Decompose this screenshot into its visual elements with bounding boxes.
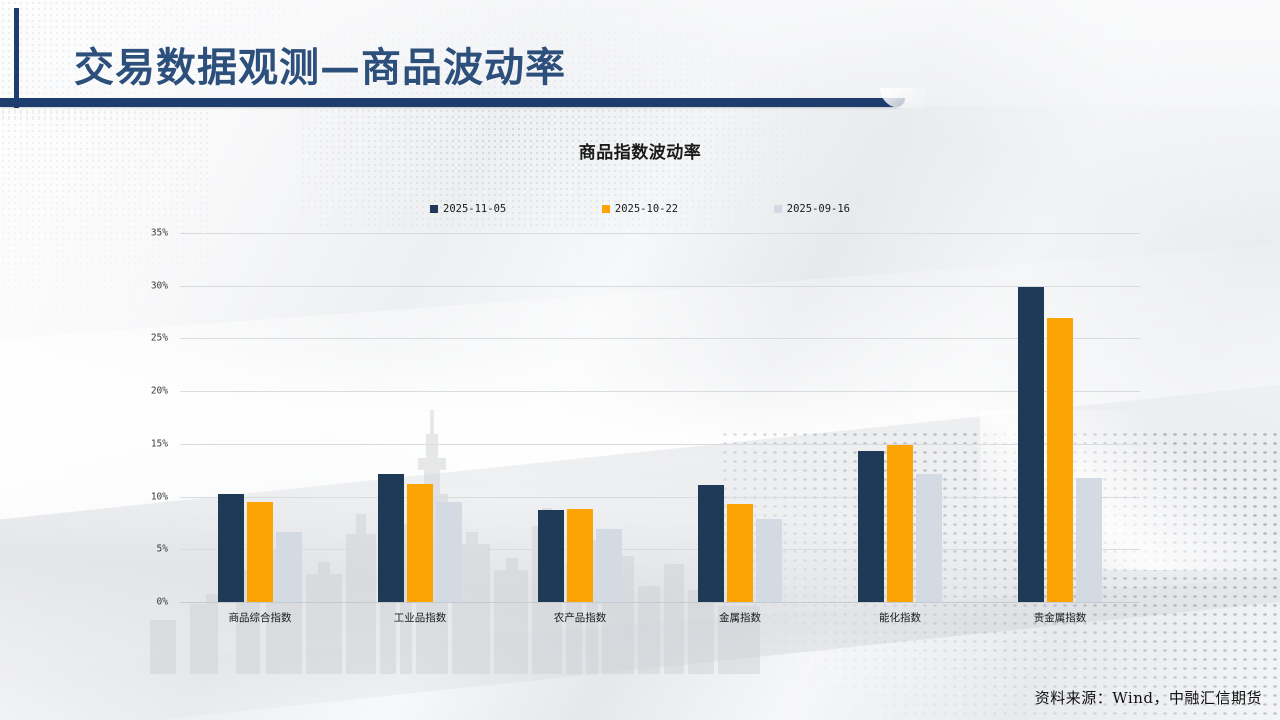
y-axis-tick-label: 30% (128, 280, 168, 291)
bar[interactable] (567, 509, 593, 602)
bar-group: 贵金属指数 (980, 233, 1140, 602)
bar[interactable] (407, 484, 433, 602)
bar[interactable] (218, 494, 244, 602)
bar-cluster (340, 233, 500, 602)
bar[interactable] (698, 485, 724, 602)
left-accent-bar (14, 8, 19, 108)
legend-item[interactable]: 2025-09-16 (774, 203, 850, 215)
legend-swatch-icon (602, 205, 610, 213)
x-axis-category-label: 商品综合指数 (180, 610, 340, 625)
x-axis-category-label: 贵金属指数 (980, 610, 1140, 625)
bar-group: 农产品指数 (500, 233, 660, 602)
legend-label: 2025-10-22 (615, 203, 678, 215)
bar-cluster (980, 233, 1140, 602)
bar-cluster (180, 233, 340, 602)
legend-swatch-icon (774, 205, 782, 213)
gridline (180, 602, 1140, 603)
legend-label: 2025-09-16 (787, 203, 850, 215)
bar[interactable] (727, 504, 753, 602)
legend-swatch-icon (430, 205, 438, 213)
bar-cluster (820, 233, 980, 602)
bar-group: 商品综合指数 (180, 233, 340, 602)
x-axis-category-label: 农产品指数 (500, 610, 660, 625)
bar-group: 能化指数 (820, 233, 980, 602)
y-axis-tick-label: 20% (128, 386, 168, 397)
bar-group: 工业品指数 (340, 233, 500, 602)
bar[interactable] (1018, 287, 1044, 602)
bar[interactable] (538, 510, 564, 602)
y-axis-tick-label: 35% (128, 228, 168, 239)
bar[interactable] (436, 502, 462, 602)
bar-group: 金属指数 (660, 233, 820, 602)
bar[interactable] (858, 451, 884, 602)
bar[interactable] (1076, 478, 1102, 602)
legend-item[interactable]: 2025-10-22 (602, 203, 678, 215)
bar[interactable] (916, 474, 942, 602)
bar[interactable] (247, 502, 273, 602)
bar-cluster (660, 233, 820, 602)
x-axis-category-label: 金属指数 (660, 610, 820, 625)
legend-label: 2025-11-05 (443, 203, 506, 215)
bar[interactable] (1047, 318, 1073, 602)
y-axis-tick-label: 0% (128, 597, 168, 608)
page-title: 交易数据观测—商品波动率 (74, 35, 566, 93)
bar[interactable] (887, 445, 913, 602)
bar[interactable] (756, 519, 782, 602)
title-underline-rule (0, 98, 905, 107)
y-axis-tick-label: 5% (128, 544, 168, 555)
legend-item[interactable]: 2025-11-05 (430, 203, 506, 215)
x-axis-category-label: 能化指数 (820, 610, 980, 625)
chart-legend: 2025-11-052025-10-222025-09-16 (430, 203, 850, 215)
slide-canvas: 交易数据观测—商品波动率 商品指数波动率 2025-11-052025-10-2… (0, 0, 1280, 720)
chart-title: 商品指数波动率 (0, 138, 1280, 163)
x-axis-category-label: 工业品指数 (340, 610, 500, 625)
bar-groups: 商品综合指数工业品指数农产品指数金属指数能化指数贵金属指数 (180, 233, 1140, 602)
y-axis-tick-label: 10% (128, 491, 168, 502)
dot-pattern-left-lower (0, 110, 210, 470)
chart-plot-area: 商品综合指数工业品指数农产品指数金属指数能化指数贵金属指数 (180, 233, 1140, 602)
y-axis-tick-label: 25% (128, 333, 168, 344)
bar-cluster (500, 233, 660, 602)
bar[interactable] (596, 529, 622, 602)
bar[interactable] (276, 532, 302, 602)
bar[interactable] (378, 474, 404, 602)
y-axis-tick-label: 15% (128, 438, 168, 449)
source-note: 资料来源：Wind，中融汇信期货 (1035, 687, 1262, 708)
